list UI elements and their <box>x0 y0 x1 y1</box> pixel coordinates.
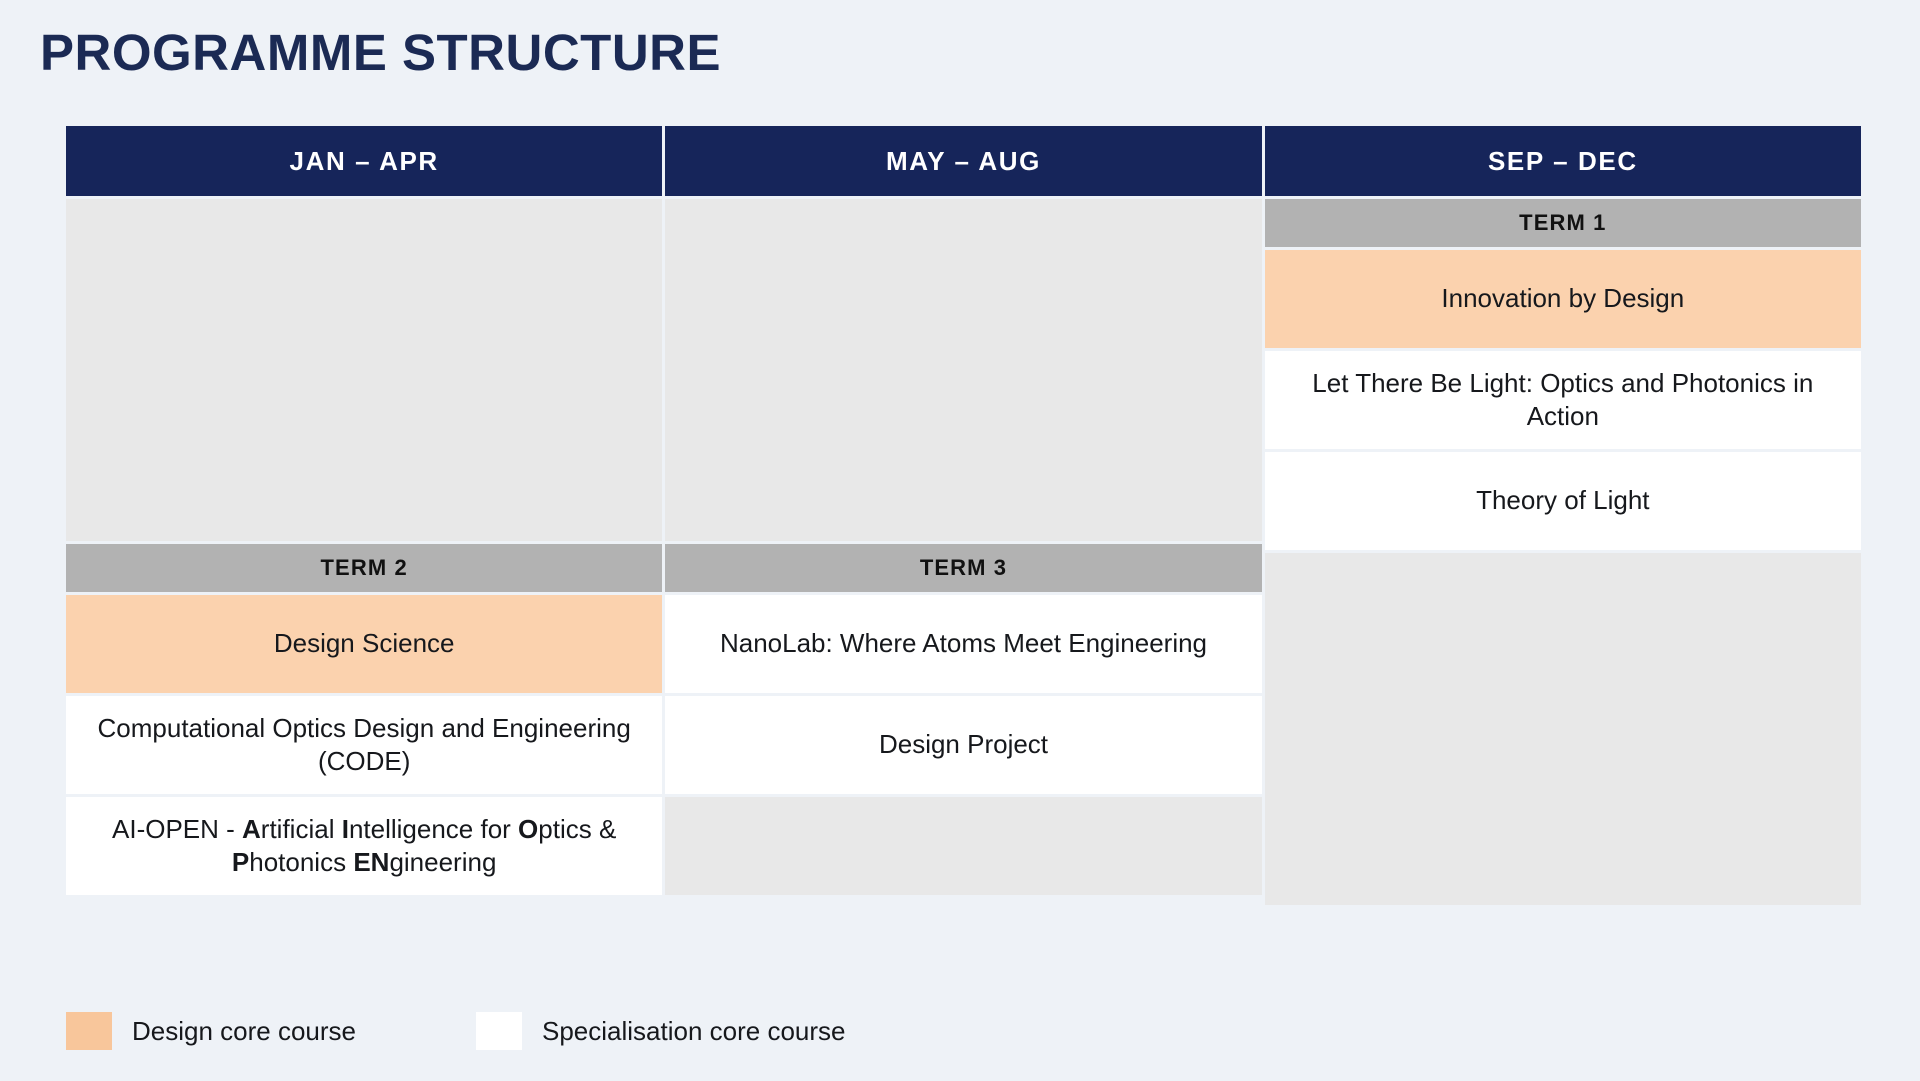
course-cell-nanolab: NanoLab: Where Atoms Meet Engineering <box>665 595 1261 693</box>
legend-label-specialisation-core: Specialisation core course <box>542 1016 846 1047</box>
course-cell-code: Computational Optics Design and Engineer… <box>66 696 662 794</box>
empty-cell-sep-dec-bottom <box>1265 553 1861 905</box>
legend-swatch-design-icon <box>66 1012 112 1050</box>
empty-cell-may-aug-bottom <box>665 797 1261 895</box>
legend: Design core course Specialisation core c… <box>66 1012 846 1050</box>
term-header-term-3: TERM 3 <box>665 544 1261 592</box>
programme-structure-page: PROGRAMME STRUCTURE JAN – APR MAY – AUG … <box>0 0 1920 1081</box>
column-may-aug: TERM 3 NanoLab: Where Atoms Meet Enginee… <box>665 199 1261 908</box>
table-header-row: JAN – APR MAY – AUG SEP – DEC <box>66 126 1861 196</box>
column-header-may-aug: MAY – AUG <box>665 126 1261 196</box>
legend-item-specialisation-core: Specialisation core course <box>476 1012 846 1050</box>
legend-label-design-core: Design core course <box>132 1016 356 1047</box>
course-cell-innovation-by-design: Innovation by Design <box>1265 250 1861 348</box>
course-cell-theory-of-light: Theory of Light <box>1265 452 1861 550</box>
course-cell-let-there-be-light: Let There Be Light: Optics and Photonics… <box>1265 351 1861 449</box>
page-title: PROGRAMME STRUCTURE <box>40 24 721 83</box>
column-header-jan-apr: JAN – APR <box>66 126 662 196</box>
empty-cell-jan-apr-top <box>66 199 662 541</box>
course-label-ai-open: AI-OPEN - Artificial Intelligence for Op… <box>82 813 646 879</box>
legend-item-design-core: Design core course <box>66 1012 356 1050</box>
column-sep-dec: TERM 1 Innovation by Design Let There Be… <box>1265 199 1861 908</box>
programme-table: JAN – APR MAY – AUG SEP – DEC TERM 2 Des… <box>66 126 1861 908</box>
term-header-term-1: TERM 1 <box>1265 199 1861 247</box>
empty-cell-may-aug-top <box>665 199 1261 541</box>
legend-swatch-specialisation-icon <box>476 1012 522 1050</box>
course-cell-design-project: Design Project <box>665 696 1261 794</box>
column-header-sep-dec: SEP – DEC <box>1265 126 1861 196</box>
column-jan-apr: TERM 2 Design Science Computational Opti… <box>66 199 662 908</box>
table-body: TERM 2 Design Science Computational Opti… <box>66 196 1861 908</box>
course-cell-ai-open: AI-OPEN - Artificial Intelligence for Op… <box>66 797 662 895</box>
term-header-term-2: TERM 2 <box>66 544 662 592</box>
course-cell-design-science: Design Science <box>66 595 662 693</box>
